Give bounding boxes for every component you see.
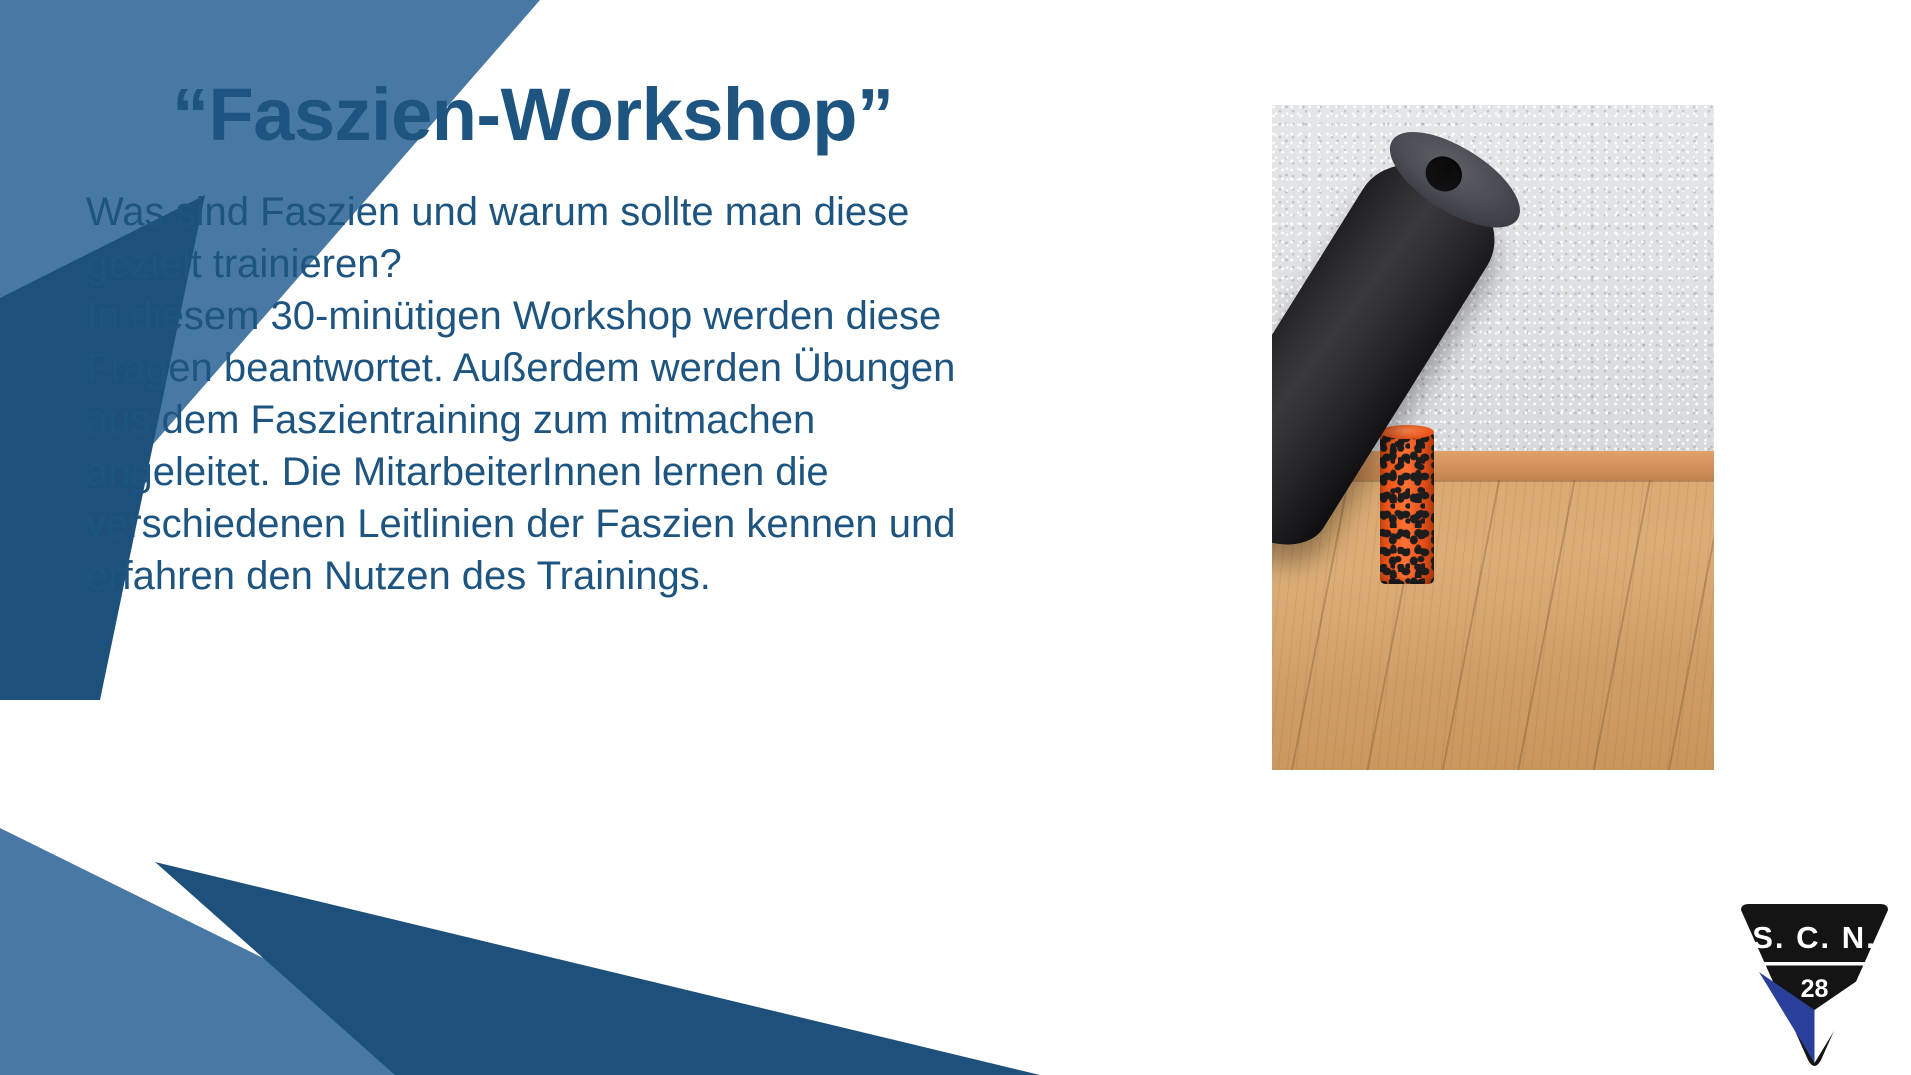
decorative-triangle-bottom-left-dark bbox=[0, 825, 1200, 1075]
orange-foam-roller bbox=[1380, 428, 1434, 584]
body-line: In diesem 30-minütigen Workshop werden d… bbox=[86, 290, 1006, 342]
body-line: angeleitet. Die MitarbeiterInnen lernen … bbox=[86, 446, 1006, 498]
body-line: Fragen beantwortet. Außerdem werden Übun… bbox=[86, 342, 1006, 394]
body-line: verschiedenen Leitlinien der Faszien ken… bbox=[86, 498, 1006, 550]
logo-initials: S. C. N. bbox=[1752, 920, 1877, 955]
body-line: gezielt trainieren? bbox=[86, 238, 1006, 290]
logo-divider bbox=[1755, 962, 1874, 966]
slide-canvas: “Faszien-Workshop” Was sind Faszien und … bbox=[0, 0, 1911, 1075]
body-line: Was sind Faszien und warum sollte man di… bbox=[86, 186, 1006, 238]
slide-body-text: Was sind Faszien und warum sollte man di… bbox=[86, 186, 1006, 602]
foam-roller-photo bbox=[1272, 105, 1714, 770]
photo-floor bbox=[1272, 480, 1714, 770]
club-logo: S. C. N. 28 bbox=[1733, 900, 1896, 1068]
slide-title: “Faszien-Workshop” bbox=[172, 76, 1072, 154]
logo-year: 28 bbox=[1801, 975, 1829, 1003]
decorative-triangle-bottom-left-light bbox=[0, 825, 1200, 1075]
body-line: erfahren den Nutzen des Trainings. bbox=[86, 550, 1006, 602]
body-line: aus dem Faszientraining zum mitmachen bbox=[86, 394, 1006, 446]
